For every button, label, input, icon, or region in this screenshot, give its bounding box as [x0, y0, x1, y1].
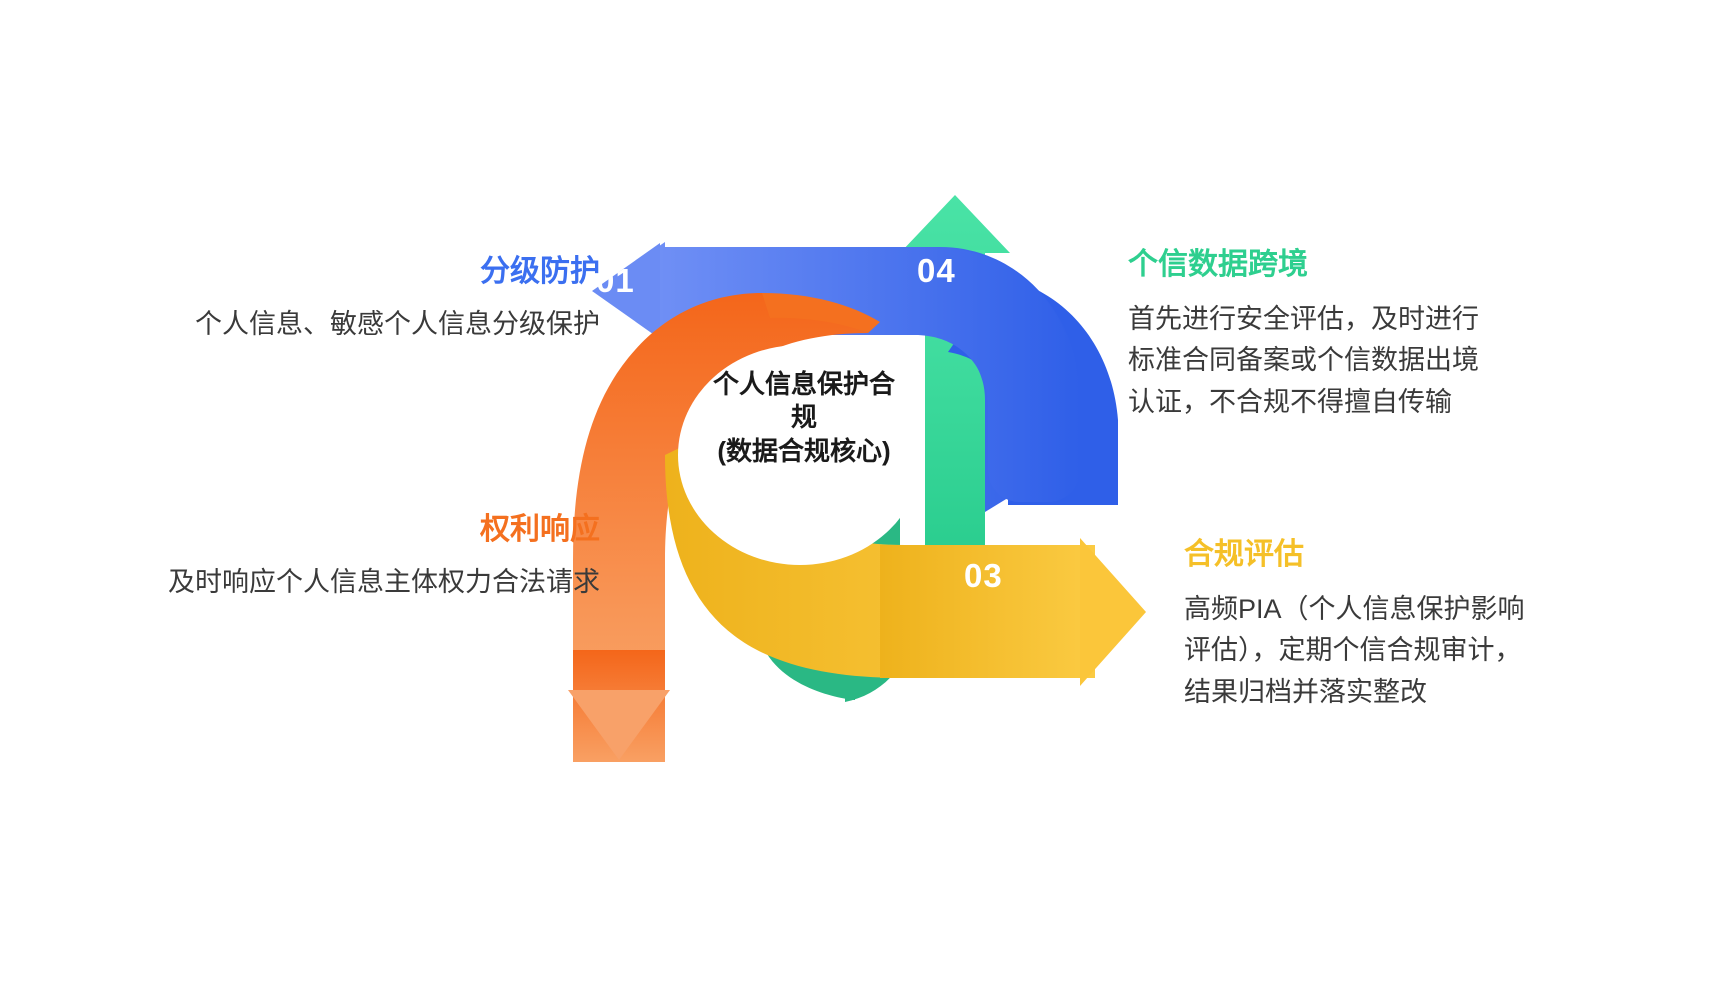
badge-number-04: 04	[917, 252, 956, 290]
diagram-canvas: 01 04 03 个人信息保护合 规 (数据合规核心) 分级防护 个人信息、敏感…	[0, 0, 1712, 990]
panel-03-description: 高频PIA（个人信息保护影响 评估），定期个信合规审计， 结果归档并落实整改	[1184, 589, 1704, 715]
badge-number-03: 03	[964, 557, 1003, 595]
swirl-graphic	[0, 0, 1712, 990]
panel-04-desc-line-3: 认证，不合规不得擅自传输	[1128, 382, 1688, 424]
panel-02-desc-line-1: 及时响应个人信息主体权力合法请求	[80, 562, 600, 604]
panel-03-title: 合规评估	[1184, 538, 1704, 573]
panel-04-desc-line-2: 标准合同备案或个信数据出境	[1128, 340, 1688, 382]
panel-item-03[interactable]: 合规评估 高频PIA（个人信息保护影响 评估），定期个信合规审计， 结果归档并落…	[1184, 538, 1704, 714]
panel-04-title: 个信数据跨境	[1128, 248, 1688, 283]
panel-01-desc-line-1: 个人信息、敏感个人信息分级保护	[100, 304, 600, 346]
panel-03-desc-line-1: 高频PIA（个人信息保护影响	[1184, 589, 1704, 631]
panel-item-02[interactable]: 权利响应 及时响应个人信息主体权力合法请求	[80, 513, 600, 603]
center-label-line2: 规	[684, 401, 924, 434]
center-label-line1: 个人信息保护合	[684, 368, 924, 401]
panel-03-desc-line-3: 结果归档并落实整改	[1184, 672, 1704, 714]
panel-04-desc-line-1: 首先进行安全评估，及时进行	[1128, 299, 1688, 341]
panel-03-desc-line-2: 评估），定期个信合规审计，	[1184, 630, 1704, 672]
center-label-line3: (数据合规核心)	[684, 435, 924, 468]
center-label: 个人信息保护合 规 (数据合规核心)	[684, 368, 924, 468]
panel-02-title: 权利响应	[80, 513, 600, 548]
badge-number-01: 01	[596, 262, 635, 300]
panel-01-description: 个人信息、敏感个人信息分级保护	[100, 304, 600, 346]
panel-item-04[interactable]: 个信数据跨境 首先进行安全评估，及时进行 标准合同备案或个信数据出境 认证，不合…	[1128, 248, 1688, 424]
panel-01-title: 分级防护	[100, 255, 600, 290]
panel-02-description: 及时响应个人信息主体权力合法请求	[80, 562, 600, 604]
panel-item-01[interactable]: 分级防护 个人信息、敏感个人信息分级保护	[100, 255, 600, 345]
panel-04-description: 首先进行安全评估，及时进行 标准合同备案或个信数据出境 认证，不合规不得擅自传输	[1128, 299, 1688, 425]
